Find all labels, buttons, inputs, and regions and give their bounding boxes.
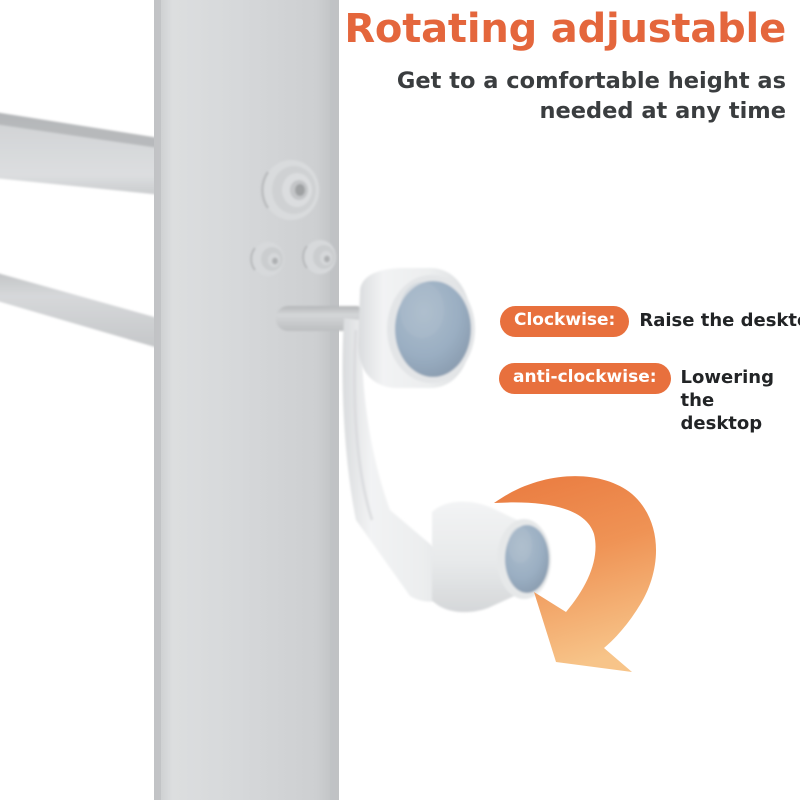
pill-anti-clockwise: anti-clockwise:	[499, 363, 671, 394]
lower-support-beam	[0, 272, 172, 352]
page-subtitle: Get to a comfortable height as needed at…	[326, 67, 786, 126]
page-title: Rotating adjustable	[326, 8, 786, 51]
crank-upper-hub	[358, 268, 475, 388]
crank-lower-grip	[432, 502, 551, 613]
callout-anticlockwise: anti-clockwise: Lowering the desktop	[499, 363, 800, 435]
product-infographic: Rotating adjustable Get to a comfortable…	[0, 0, 800, 800]
pill-clockwise: Clockwise:	[500, 306, 629, 337]
callout-clockwise: Clockwise: Raise the desktop	[500, 306, 800, 337]
upper-support-beam	[0, 112, 172, 196]
callout-anti-clockwise-description: Lowering the desktop	[681, 363, 800, 435]
vertical-post	[154, 0, 339, 800]
callout-clockwise-description: Raise the desktop	[639, 306, 800, 332]
headline-block: Rotating adjustable Get to a comfortable…	[326, 8, 786, 127]
